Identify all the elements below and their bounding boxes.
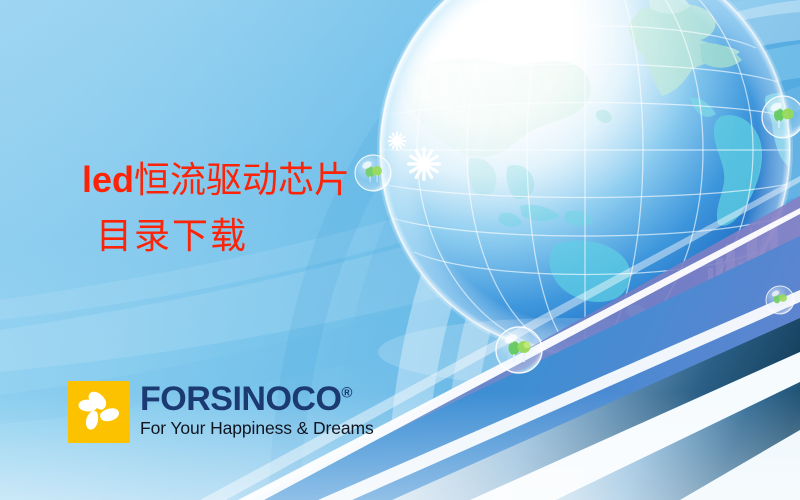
- logo-pinwheel-icon: [68, 381, 130, 443]
- bubble-icon: [355, 155, 391, 191]
- logo-text-block: FORSINOCO® For Your Happiness & Dreams: [140, 381, 374, 438]
- headline: led恒流驱动芯片 目录下载: [82, 162, 350, 254]
- bubble-icon: [766, 286, 794, 314]
- bubble-icon: [496, 327, 542, 373]
- headline-latin-text: led: [82, 159, 134, 200]
- registered-trademark-icon: ®: [341, 385, 352, 402]
- logo-wordmark-text: FORSINOCO: [140, 380, 341, 418]
- promo-banner: led恒流驱动芯片 目录下载 FORSINOCO® For Your Happi…: [0, 0, 800, 500]
- logo-tagline: For Your Happiness & Dreams: [140, 418, 374, 438]
- bubble-icon: [762, 96, 800, 138]
- logo-wordmark: FORSINOCO®: [140, 382, 374, 416]
- headline-cjk-text: 恒流驱动芯片: [134, 160, 350, 200]
- headline-line-2: 目录下载: [82, 218, 350, 254]
- company-logo: FORSINOCO® For Your Happiness & Dreams: [68, 381, 374, 443]
- headline-line-1: led恒流驱动芯片: [82, 162, 350, 198]
